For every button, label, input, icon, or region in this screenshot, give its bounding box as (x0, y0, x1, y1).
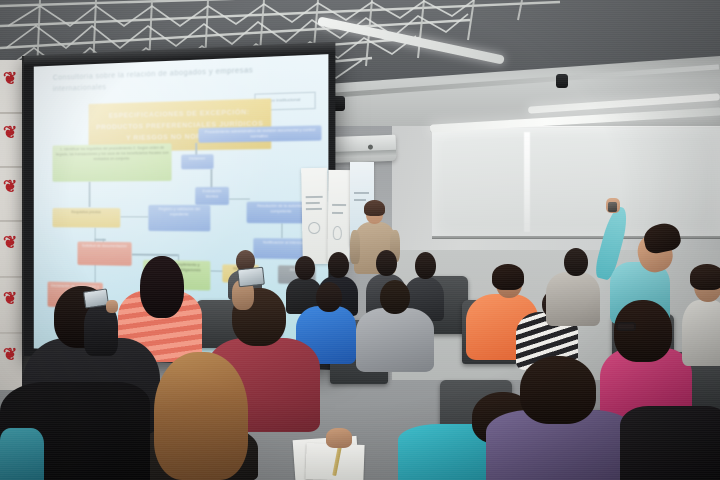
ac-indicator (368, 145, 373, 150)
whiteboard-reflection (524, 132, 530, 232)
flow-connector (281, 223, 283, 238)
attendee-torso (356, 308, 434, 372)
attendee-torso (620, 406, 720, 480)
handheld-device (608, 202, 617, 212)
list-item (620, 384, 720, 480)
list-item (546, 248, 602, 324)
banner-logo-icon: ❦ (3, 232, 17, 254)
attendee-hair (690, 264, 720, 290)
attendee-hand (106, 300, 118, 313)
flow-node: Evaluación técnica (196, 187, 229, 205)
flow-connector (89, 182, 90, 208)
attendee-head (328, 252, 349, 278)
flow-node: Dictamen (181, 154, 214, 169)
flipchart-sheet (301, 168, 329, 264)
flow-node: Procedimiento administrativo de revisión… (199, 125, 323, 143)
attendee-head (614, 300, 672, 362)
banner-logo-icon: ❦ (3, 344, 17, 366)
list-item (682, 268, 720, 364)
flow-node: 1. Identificar los requisitos del proced… (53, 143, 172, 182)
attendee-hair (154, 352, 248, 480)
attendee-head (415, 252, 436, 279)
flipchart-sheet (328, 170, 351, 262)
ceiling-spotlight (556, 74, 568, 88)
presenter-hair (364, 200, 385, 216)
attendee-torso (682, 300, 720, 366)
slide-header-text: Consultoría sobre la relación de abogado… (53, 64, 300, 95)
attendee-torso (0, 428, 44, 480)
attendee-blonde-foreground (140, 352, 260, 480)
flow-connector (120, 216, 149, 218)
list-item (0, 428, 44, 480)
attendee-head (295, 256, 315, 280)
smartphone (237, 267, 265, 288)
presentation-room-photo: Conference room presentation with projec… (0, 0, 720, 480)
attendee-head (564, 248, 588, 276)
banner-logo-icon: ❦ (3, 122, 17, 144)
banner-logo-icon: ❦ (3, 176, 17, 198)
attendee-hair (641, 221, 682, 256)
attendee-head (376, 250, 397, 276)
banner-logo-icon: ❦ (3, 68, 17, 90)
vertical-roll-up-banner: ❦ ❦ ❦ ❦ ❦ ❦ (0, 60, 22, 390)
flow-node: Registro y validación del expediente (149, 205, 211, 232)
flow-connector (229, 199, 250, 201)
flow-node: Requisitos previos (53, 208, 120, 228)
list-item (224, 268, 268, 308)
attendee-head (520, 356, 596, 424)
attendee-gray-polo (356, 280, 436, 370)
banner-logo-icon: ❦ (3, 288, 17, 310)
attendee-hand (326, 428, 352, 448)
attendee-head (380, 280, 410, 314)
attendee-torso (546, 272, 600, 326)
attendee-purple-shirt (486, 356, 636, 480)
attendee-hair (492, 264, 524, 290)
glasses-icon (616, 322, 636, 331)
